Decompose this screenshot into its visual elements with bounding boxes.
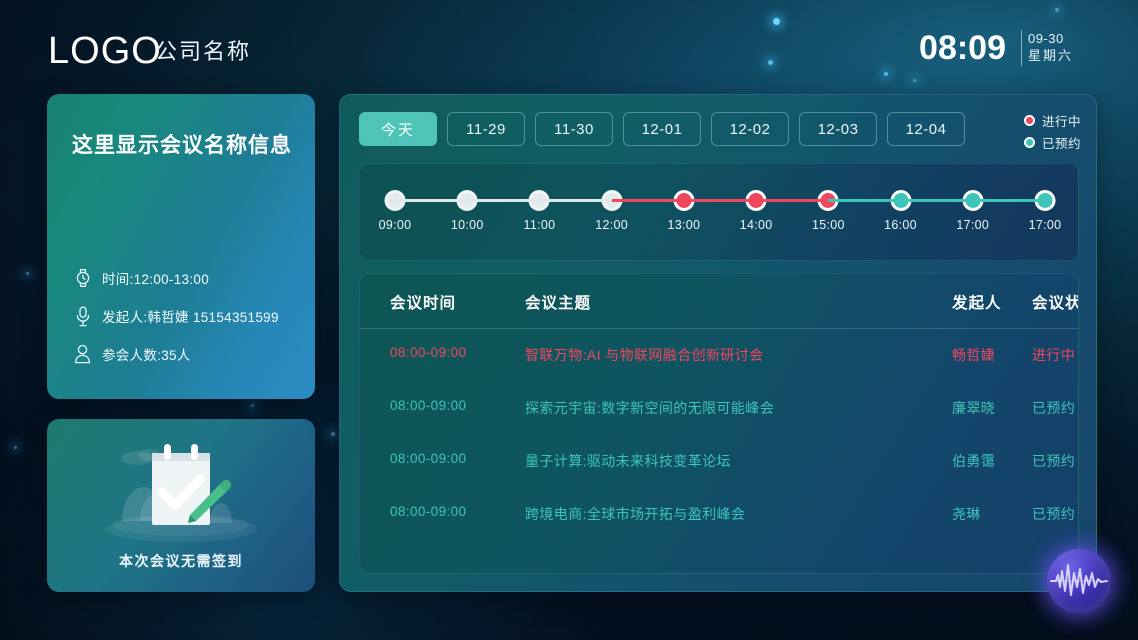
cell-meeting-host: 伯勇霭 bbox=[952, 451, 1037, 471]
cell-meeting-status: 进行中 bbox=[1032, 345, 1079, 365]
table-row[interactable]: 08:00-09:00智联万物:AI 与物联网融合创新研讨会畅哲婕进行中 bbox=[360, 329, 1079, 382]
particle-dot bbox=[331, 432, 335, 436]
header-weekday: 星期六 bbox=[1028, 47, 1096, 65]
timeline-segment bbox=[395, 199, 467, 202]
timeline: 09:0010:0011:0012:0013:0014:0015:0016:00… bbox=[360, 164, 1080, 262]
person-icon bbox=[73, 343, 92, 365]
header-date: 09-30 bbox=[1028, 30, 1096, 47]
header-divider bbox=[1021, 30, 1022, 66]
cell-meeting-topic: 智联万物:AI 与物联网融合创新研讨会 bbox=[525, 345, 915, 365]
timeline-label: 16:00 bbox=[884, 218, 917, 232]
legend-label: 已预约 bbox=[1042, 133, 1081, 152]
timeline-label: 10:00 bbox=[451, 218, 484, 232]
timeline-segment bbox=[828, 199, 900, 202]
date-tab-11-29[interactable]: 11-29 bbox=[447, 112, 525, 146]
timeline-segment bbox=[901, 199, 973, 202]
clock-time: 08:09 bbox=[919, 28, 1006, 68]
cell-meeting-host: 尧琳 bbox=[952, 504, 1037, 524]
meeting-title: 这里显示会议名称信息 bbox=[72, 132, 298, 160]
legend-item-1: 已预约 bbox=[1024, 133, 1081, 152]
table-row[interactable]: 08:00-09:00探索元宇宙:数字新空间的无限可能峰会廉翠晓已预约 bbox=[360, 382, 1079, 435]
cell-meeting-status: 已预约 bbox=[1032, 451, 1079, 471]
status-legend: 进行中已预约 bbox=[1024, 111, 1081, 155]
watch-icon bbox=[73, 267, 92, 289]
cell-meeting-topic: 量子计算:驱动未来科技变革论坛 bbox=[525, 451, 915, 471]
schedule-panel: 今天11-2911-3012-0112-0212-0312-04 进行中已预约 … bbox=[339, 94, 1097, 592]
signin-status-text: 本次会议无需签到 bbox=[47, 551, 315, 571]
meeting-host-row: 发起人:韩哲婕 15154351599 bbox=[73, 305, 279, 327]
timeline-label: 14:00 bbox=[740, 218, 773, 232]
meeting-host-label: 发起人:韩哲婕 15154351599 bbox=[102, 306, 279, 326]
cell-meeting-topic: 跨境电商:全球市场开拓与盈利峰会 bbox=[525, 504, 915, 524]
clipboard-check-icon bbox=[78, 435, 284, 552]
particle-dot bbox=[26, 272, 29, 275]
column-header-topic: 会议主题 bbox=[525, 291, 915, 313]
timeline-card: 09:0010:0011:0012:0013:0014:0015:0016:00… bbox=[359, 163, 1079, 261]
legend-dot-icon bbox=[1024, 115, 1035, 126]
date-tab-11-30[interactable]: 11-30 bbox=[535, 112, 613, 146]
date-tabs: 今天11-2911-3012-0112-0212-0312-04 bbox=[359, 112, 965, 146]
timeline-label: 12:00 bbox=[595, 218, 628, 232]
cell-meeting-time: 08:00-09:00 bbox=[390, 451, 540, 466]
timeline-segment bbox=[684, 199, 756, 202]
table-row[interactable]: 08:00-09:00跨境电商:全球市场开拓与盈利峰会尧琳已预约 bbox=[360, 488, 1079, 541]
date-tab-12-01[interactable]: 12-01 bbox=[623, 112, 701, 146]
column-header-host: 发起人 bbox=[952, 291, 1037, 313]
date-tab-12-04[interactable]: 12-04 bbox=[887, 112, 965, 146]
signin-status-card: 本次会议无需签到 bbox=[47, 419, 315, 592]
logo: LOGO bbox=[48, 30, 162, 72]
meetings-table: 会议时间 会议主题 发起人 会议状态 08:00-09:00智联万物:AI 与物… bbox=[359, 273, 1079, 574]
legend-dot-icon bbox=[1024, 137, 1035, 148]
meeting-time-row: 时间:12:00-13:00 bbox=[73, 267, 209, 289]
timeline-label: 17:00 bbox=[1029, 218, 1062, 232]
table-row[interactable]: 08:00-09:00量子计算:驱动未来科技变革论坛伯勇霭已预约 bbox=[360, 435, 1079, 488]
header: LOGO 公司名称 08:09 09-30 星期六 bbox=[0, 0, 1138, 92]
timeline-label: 15:00 bbox=[812, 218, 845, 232]
cell-meeting-topic: 探索元宇宙:数字新空间的无限可能峰会 bbox=[525, 398, 915, 418]
cell-meeting-time: 08:00-09:00 bbox=[390, 504, 540, 519]
meeting-info-card: 这里显示会议名称信息 时间:12:00-13:00 发起人:韩哲婕 151543… bbox=[47, 94, 315, 399]
timeline-label: 11:00 bbox=[524, 218, 556, 232]
cell-meeting-status: 已预约 bbox=[1032, 398, 1079, 418]
date-tab-today[interactable]: 今天 bbox=[359, 112, 437, 146]
table-header: 会议时间 会议主题 发起人 会议状态 bbox=[360, 274, 1079, 328]
timeline-label: 09:00 bbox=[379, 218, 412, 232]
orb-ball bbox=[1047, 549, 1111, 613]
column-header-status: 会议状态 bbox=[1032, 291, 1079, 313]
timeline-label: 13:00 bbox=[667, 218, 700, 232]
cell-meeting-time: 08:00-09:00 bbox=[390, 345, 540, 360]
date-tab-12-02[interactable]: 12-02 bbox=[711, 112, 789, 146]
meeting-attendee-count-row: 参会人数:35人 bbox=[73, 343, 191, 365]
timeline-segment bbox=[612, 199, 684, 202]
date-tab-12-03[interactable]: 12-03 bbox=[799, 112, 877, 146]
timeline-segment bbox=[973, 199, 1045, 202]
timeline-segment bbox=[539, 199, 611, 202]
cell-meeting-status: 已预约 bbox=[1032, 504, 1079, 524]
meeting-time-label: 时间:12:00-13:00 bbox=[102, 268, 209, 288]
voice-assistant-orb-icon[interactable] bbox=[1047, 549, 1111, 613]
legend-item-0: 进行中 bbox=[1024, 111, 1081, 130]
cell-meeting-host: 廉翠晓 bbox=[952, 398, 1037, 418]
legend-label: 进行中 bbox=[1042, 111, 1081, 130]
meeting-attendee-count-label: 参会人数:35人 bbox=[102, 344, 191, 364]
timeline-label: 17:00 bbox=[956, 218, 989, 232]
particle-dot bbox=[251, 404, 254, 407]
cell-meeting-time: 08:00-09:00 bbox=[390, 398, 540, 413]
particle-dot bbox=[14, 446, 17, 449]
company-name: 公司名称 bbox=[155, 38, 251, 66]
microphone-icon bbox=[73, 305, 92, 327]
timeline-segment bbox=[756, 199, 828, 202]
timeline-segment bbox=[467, 199, 539, 202]
header-date-block: 09-30 星期六 bbox=[1028, 30, 1096, 65]
column-header-time: 会议时间 bbox=[390, 291, 540, 313]
cell-meeting-host: 畅哲婕 bbox=[952, 345, 1037, 365]
